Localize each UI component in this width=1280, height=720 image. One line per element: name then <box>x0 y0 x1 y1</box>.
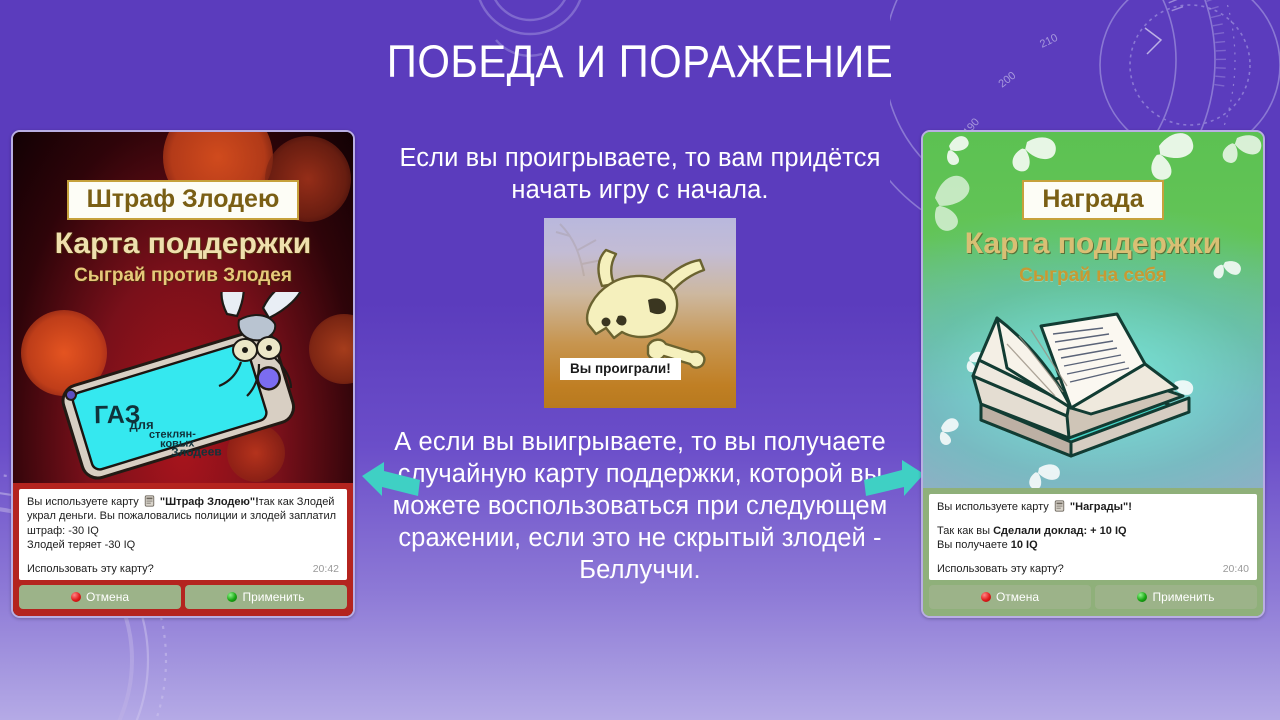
dialog-line-reason: Так как вы Сделали доклад: + 10 IQ <box>937 524 1249 539</box>
dialog-line-main: Вы используете карту "Награды"! <box>937 500 1249 515</box>
center-content: Если вы проигрываете, то вам придётся на… <box>372 142 908 586</box>
card-reward-title: Карта поддержки <box>923 226 1263 262</box>
cancel-button[interactable]: Отмена <box>929 585 1091 609</box>
dialog-line-effect: Вы получаете 10 IQ <box>937 538 1249 553</box>
dialog-card-name: "Награды"! <box>1070 501 1132 513</box>
card-reward-dialog-body: Вы используете карту "Награды"! Так как … <box>929 494 1257 580</box>
dialog-spacer <box>937 553 1249 562</box>
card-penalty-subtitle: Сыграй против Злодея <box>13 264 353 288</box>
red-dot-icon <box>71 592 81 602</box>
loss-illustration: Вы проиграли! <box>544 218 736 408</box>
dialog-question: Использовать эту карту? <box>937 562 1064 577</box>
dialog-prefix: Вы используете карту <box>937 501 1049 513</box>
card-reward-buttons: Отмена Применить <box>929 585 1257 609</box>
card-reward-artwork: Награда Карта поддержки Сыграй на себя <box>923 132 1263 488</box>
dialog-effect-bold: 10 IQ <box>1011 539 1038 551</box>
phone-and-fly-icon: ГАЗ для стеклян- ковых Злодеев <box>13 292 353 488</box>
dialog-question: Использовать эту карту? <box>27 562 154 577</box>
paragraph-lose: Если вы проигрываете, то вам придётся на… <box>372 142 908 206</box>
red-dot-icon <box>981 592 991 602</box>
dialog-spacer <box>937 515 1249 524</box>
card-chip-icon <box>1054 500 1065 512</box>
card-penalty[interactable]: ГАЗ для стеклян- ковых Злодеев <box>11 130 355 618</box>
page-title: ПОБЕДА И ПОРАЖЕНИЕ <box>45 34 1235 90</box>
card-reward-subtitle: Сыграй на себя <box>923 264 1263 288</box>
dialog-timestamp: 20:40 <box>1223 562 1249 577</box>
cancel-button[interactable]: Отмена <box>19 585 181 609</box>
dialog-prefix: Вы используете карту <box>27 496 139 508</box>
card-penalty-buttons: Отмена Применить <box>19 585 347 609</box>
open-book-icon <box>945 304 1245 488</box>
dialog-effect-prefix: Вы получаете <box>937 539 1008 551</box>
card-penalty-artwork: ГАЗ для стеклян- ковых Злодеев <box>13 132 353 488</box>
dialog-spacer <box>27 553 339 562</box>
card-penalty-title: Карта поддержки <box>13 226 353 262</box>
card-reward-header: Награда Карта поддержки Сыграй на себя <box>923 180 1263 288</box>
card-reward-badge: Награда <box>1022 180 1163 220</box>
dialog-card-name: "Штраф Злодею"! <box>160 496 259 508</box>
paragraph-win: А если вы выигрываете, то вы получаете с… <box>372 426 908 586</box>
card-penalty-header: Штраф Злодею Карта поддержки Сыграй прот… <box>13 180 353 288</box>
card-chip-icon <box>144 495 155 507</box>
dialog-reason-prefix: Так как вы <box>937 525 990 537</box>
dialog-reason-bold: Сделали доклад: + 10 IQ <box>993 525 1127 537</box>
dialog-footer: Использовать эту карту? 20:42 <box>27 562 339 577</box>
arrow-left-icon <box>358 456 424 512</box>
apply-button-label: Применить <box>242 590 304 604</box>
dialog-line-effect: Злодей теряет -30 IQ <box>27 538 339 553</box>
cancel-button-label: Отмена <box>996 590 1039 604</box>
cancel-button-label: Отмена <box>86 590 129 604</box>
svg-text:Злодеев: Злодеев <box>171 444 222 459</box>
card-penalty-dialog: Вы используете карту "Штраф Злодею"!так … <box>13 483 353 617</box>
card-reward-dialog: Вы используете карту "Награды"! Так как … <box>923 488 1263 616</box>
card-penalty-badge: Штраф Злодею <box>67 180 300 220</box>
green-dot-icon <box>1137 592 1147 602</box>
green-dot-icon <box>227 592 237 602</box>
apply-button-label: Применить <box>1152 590 1214 604</box>
dialog-footer: Использовать эту карту? 20:40 <box>937 562 1249 577</box>
apply-button[interactable]: Применить <box>185 585 347 609</box>
arrow-right-icon <box>858 456 928 512</box>
loss-label: Вы проиграли! <box>560 358 681 380</box>
dialog-line-main: Вы используете карту "Штраф Злодею"!так … <box>27 495 339 539</box>
card-reward[interactable]: Награда Карта поддержки Сыграй на себя В… <box>921 130 1265 618</box>
dialog-timestamp: 20:42 <box>313 562 339 577</box>
card-penalty-dialog-body: Вы используете карту "Штраф Злодею"!так … <box>19 489 347 581</box>
apply-button[interactable]: Применить <box>1095 585 1257 609</box>
